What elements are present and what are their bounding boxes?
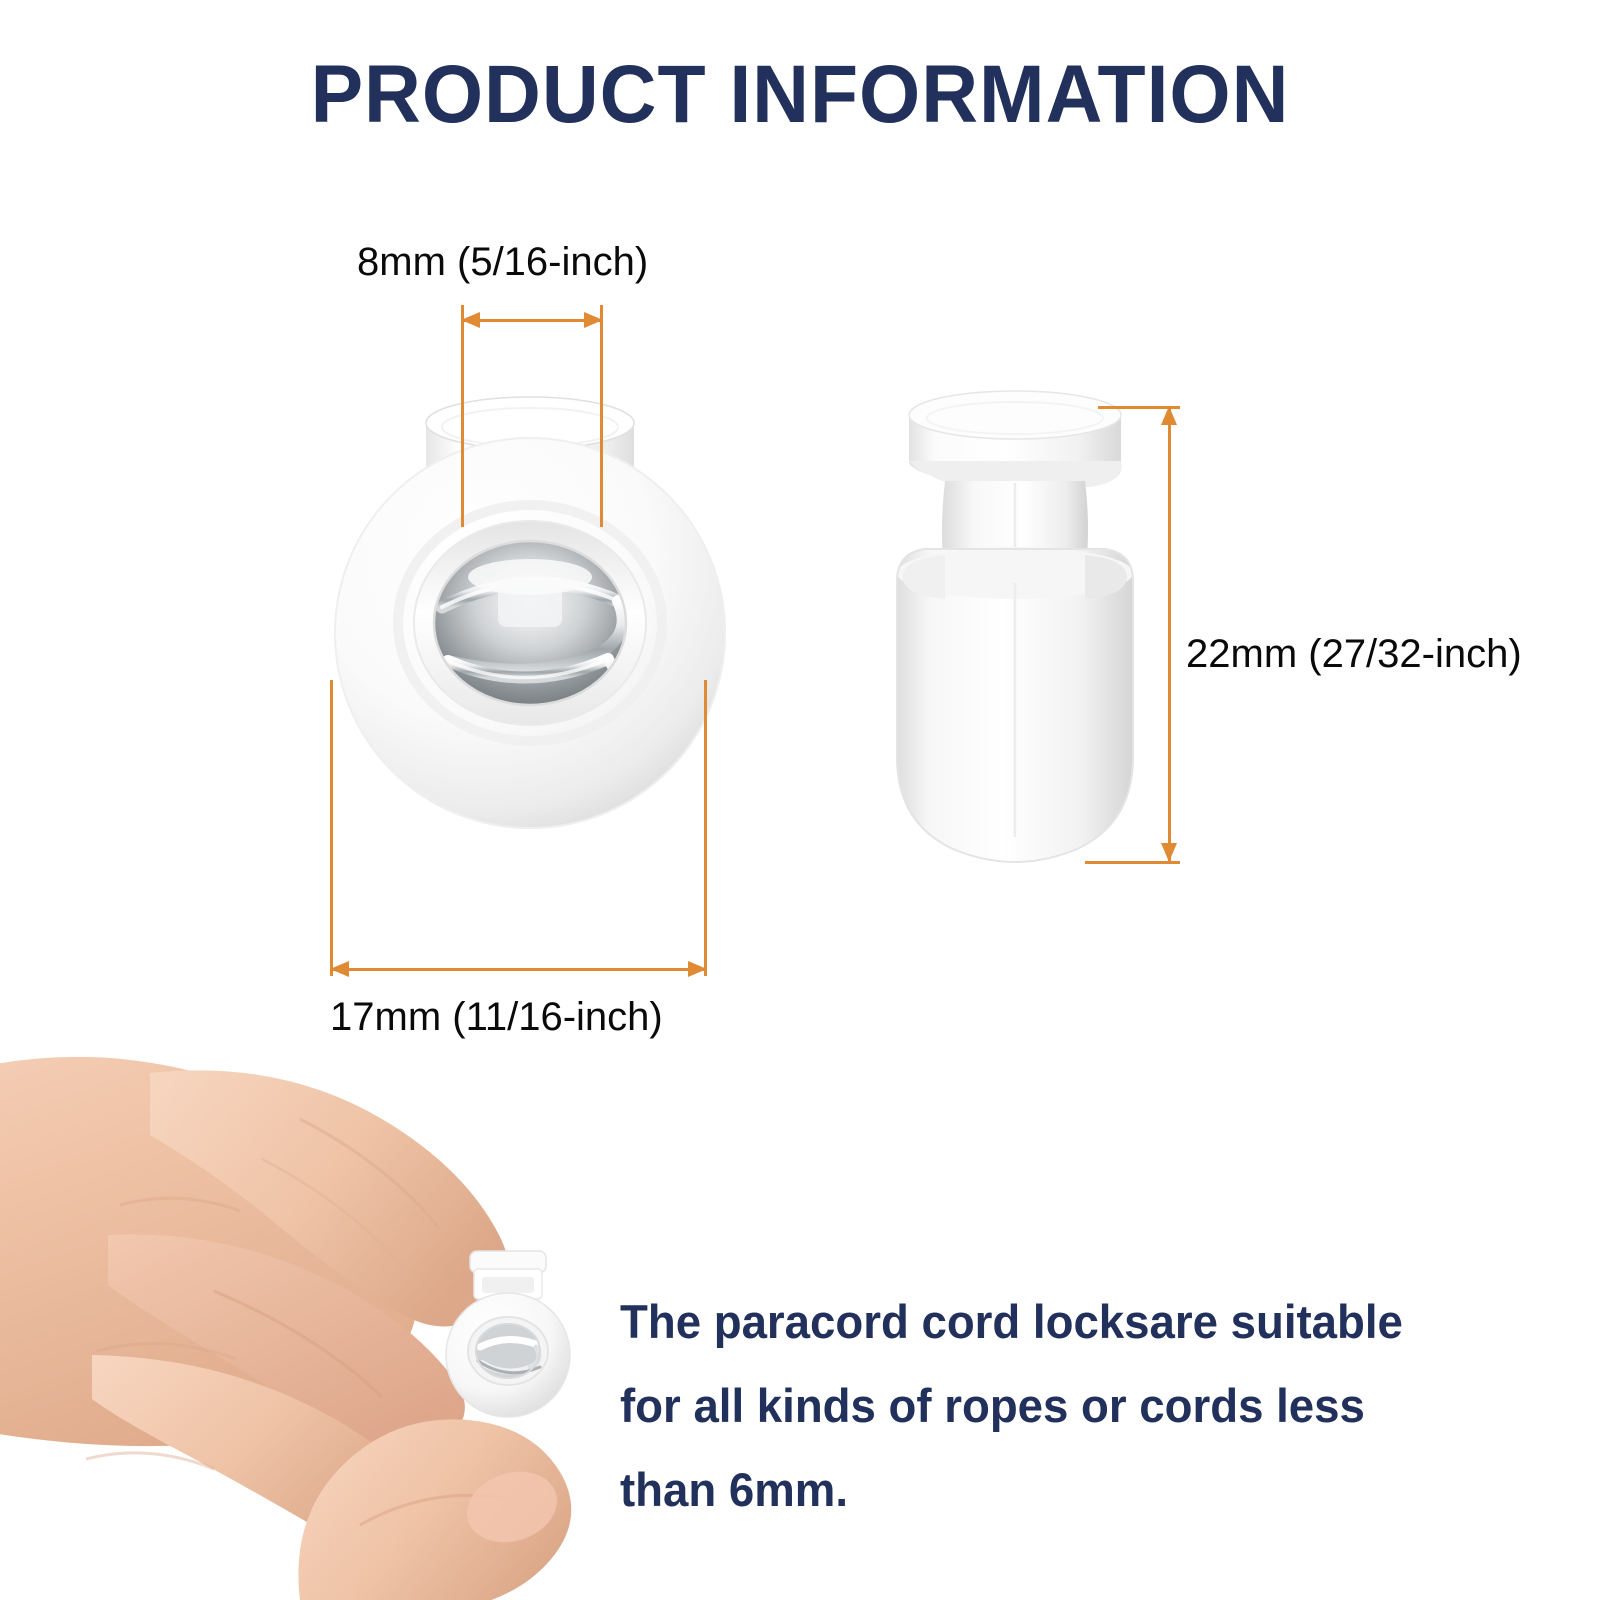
dimension-arrow-22mm xyxy=(1168,406,1171,862)
front-view-cord-lock xyxy=(330,385,730,885)
side-button-head xyxy=(909,391,1122,487)
dimension-label-width-top: 8mm (5/16-inch) xyxy=(357,240,648,285)
description-line-1: The paracord cord locksare suitable xyxy=(620,1280,1464,1364)
dimension-arrow-8mm xyxy=(461,319,603,322)
product-description: The paracord cord locksare suitable for … xyxy=(620,1280,1464,1532)
extension-line-8mm-left xyxy=(461,305,464,527)
product-information-page: PRODUCT INFORMATION xyxy=(0,0,1600,1600)
cord-lock-held-in-hand xyxy=(0,1055,620,1600)
dimension-label-height-right: 22mm (27/32-inch) xyxy=(1186,632,1522,677)
extension-line-8mm-right xyxy=(600,305,603,527)
extension-line-17mm-left xyxy=(330,680,333,976)
extension-line-17mm-right xyxy=(704,680,707,976)
dimension-arrow-17mm xyxy=(330,968,707,971)
dimension-label-width-bottom: 17mm (11/16-inch) xyxy=(330,995,663,1040)
side-cord-lock-body xyxy=(897,547,1133,862)
page-title: PRODUCT INFORMATION xyxy=(32,48,1568,142)
description-line-2: for all kinds of ropes or cords less xyxy=(620,1364,1464,1448)
side-view-cord-lock xyxy=(845,385,1185,885)
description-line-3: than 6mm. xyxy=(620,1448,1464,1532)
